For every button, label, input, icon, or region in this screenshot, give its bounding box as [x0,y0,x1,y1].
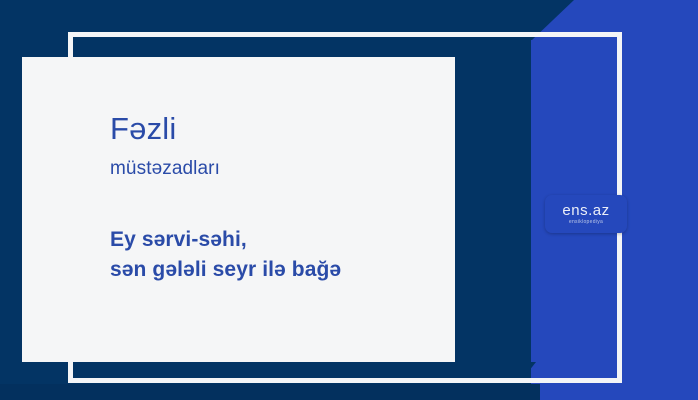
quote-card-content: Fəzli müstəzadları Ey sərvi-səhi, sən gə… [110,112,437,285]
poem-line: sən gələli seyr ilə bağə [110,255,437,285]
logo-tagline: ensiklopediya [569,220,603,225]
logo-wordmark: ens.az [562,203,609,218]
poem-line: Ey sərvi-səhi, [110,225,437,255]
quote-card: Fəzli müstəzadları Ey sərvi-səhi, sən gə… [22,57,455,362]
ens-az-logo-badge[interactable]: ens.az ensiklopediya [545,195,627,233]
page-title: Fəzli [110,112,437,146]
poem-body: Ey sərvi-səhi, sən gələli seyr ilə bağə [110,225,437,285]
decorative-strip-bottom-left [0,384,540,400]
poster-canvas: Fəzli müstəzadları Ey sərvi-səhi, sən gə… [0,0,698,400]
page-subtitle: müstəzadları [110,158,437,181]
